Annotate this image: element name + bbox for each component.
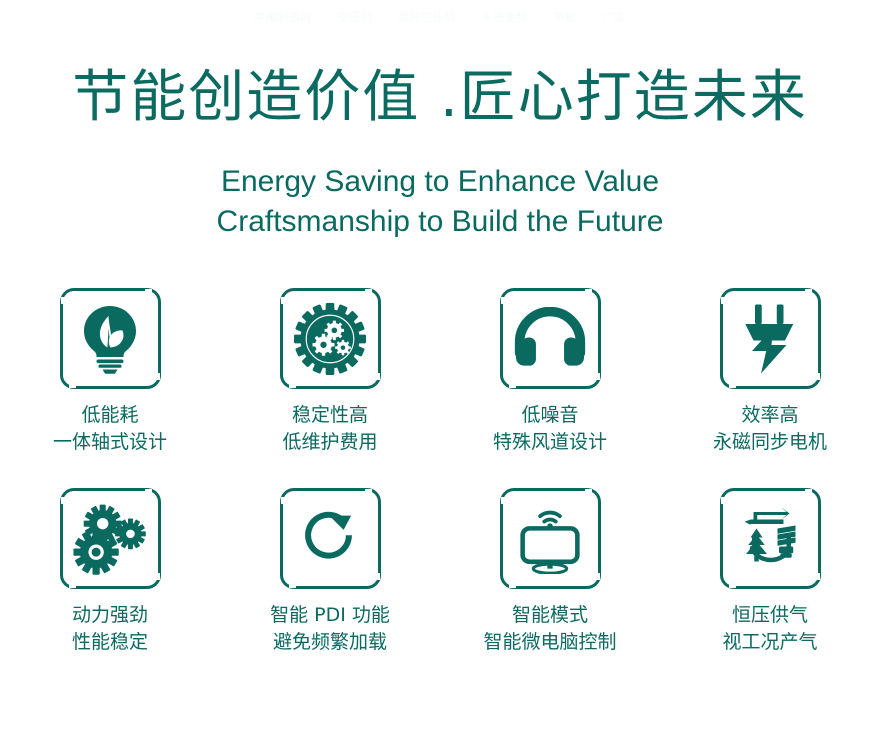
feature-label-line1: 动力强劲 [72,602,148,629]
three-gears-icon [72,503,148,575]
icon-frame [500,488,601,589]
feature-labels: 低噪音 特殊风道设计 [493,402,607,456]
icon-frame [60,288,161,389]
feature-grid: 低能耗 一体轴式设计 [0,288,880,688]
promo-banner: 中国制造网 空压机 螺杆空压机 永磁变频 节能 厂家 节能创造价值 .匠心打造未… [0,0,880,746]
watermark-text: 永磁变频 [482,9,528,25]
feature-label-line1: 低噪音 [493,402,607,429]
watermark-text: 中国制造网 [254,9,312,25]
gear-cluster-in-gear-icon [294,303,366,375]
feature-labels: 稳定性高 低维护费用 [282,402,377,456]
feature-labels: 效率高 永磁同步电机 [713,402,827,456]
feature-label-line1: 恒压供气 [722,602,817,629]
watermark-text: 螺杆空压机 [398,9,456,25]
feature-label-line1: 智能模式 [483,602,616,629]
feature-label-line2: 避免频繁加载 [270,629,390,656]
feature-item: 智能 PDI 功能 避免频繁加载 [220,488,440,688]
feature-item: 低能耗 一体轴式设计 [0,288,220,488]
page-title-chinese: 节能创造价值 .匠心打造未来 [0,66,880,130]
watermark-text: 厂家 [603,9,626,25]
power-plug-bolt-icon [740,303,800,375]
feature-label-line1: 智能 PDI 功能 [270,602,390,629]
feature-item: 低噪音 特殊风道设计 [440,288,660,488]
feature-label-line1: 稳定性高 [282,402,377,429]
feature-item: 恒压供气 视工况产气 [660,488,880,688]
watermark-text: 节能 [554,9,577,25]
icon-frame [280,288,381,389]
smart-monitor-wifi-icon [512,504,588,574]
feature-label-line1: 效率高 [713,402,827,429]
watermark-strip: 中国制造网 空压机 螺杆空压机 永磁变频 节能 厂家 [0,8,880,26]
headphones-icon [513,307,587,371]
feature-label-line2: 永磁同步电机 [713,429,827,456]
feature-label-line2: 智能微电脑控制 [483,629,616,656]
feature-label-line2: 视工况产气 [722,629,817,656]
feature-item: 智能模式 智能微电脑控制 [440,488,660,688]
icon-frame [720,288,821,389]
feature-label-line2: 性能稳定 [72,629,148,656]
feature-labels: 恒压供气 视工况产气 [722,602,817,656]
watermark-text: 空压机 [338,9,373,25]
feature-label-line2: 特殊风道设计 [493,429,607,456]
subtitle-line-2: Craftsmanship to Build the Future [0,202,880,242]
icon-frame [500,288,601,389]
feature-label-line1: 低能耗 [53,402,167,429]
icon-frame [280,488,381,589]
eco-lightbulb-icon [77,304,143,374]
tree-bulb-cycle-icon [734,503,806,575]
feature-labels: 低能耗 一体轴式设计 [53,402,167,456]
feature-labels: 智能 PDI 功能 避免频繁加载 [270,602,390,656]
feature-label-line2: 一体轴式设计 [53,429,167,456]
circular-refresh-arrow-icon [296,505,364,573]
icon-frame [720,488,821,589]
feature-item: 动力强劲 性能稳定 [0,488,220,688]
icon-frame [60,488,161,589]
subtitle-line-1: Energy Saving to Enhance Value [0,162,880,202]
feature-label-line2: 低维护费用 [282,429,377,456]
feature-item: 稳定性高 低维护费用 [220,288,440,488]
feature-labels: 智能模式 智能微电脑控制 [483,602,616,656]
page-subtitle-english: Energy Saving to Enhance Value Craftsman… [0,162,880,242]
feature-labels: 动力强劲 性能稳定 [72,602,148,656]
feature-item: 效率高 永磁同步电机 [660,288,880,488]
